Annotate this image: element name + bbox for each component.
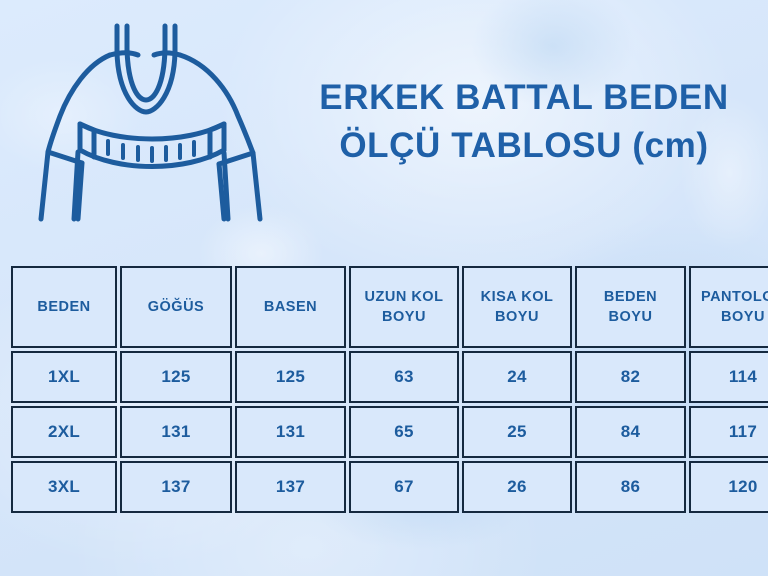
page-title: ERKEK BATTAL BEDEN ÖLÇÜ TABLOSU (cm): [296, 74, 752, 170]
header-line: KISA KOL: [464, 287, 570, 307]
cell-uzun-kol-boyu: 65: [349, 406, 459, 458]
header-line: BOYU: [577, 307, 684, 327]
column-header-pantolon-boyu: PANTOLON BOYU: [689, 266, 768, 348]
header-line: UZUN KOL: [351, 287, 457, 307]
cell-gogus: 125: [120, 351, 232, 403]
cell-basen: 137: [235, 461, 346, 513]
column-header-gogus: GÖĞÜS: [120, 266, 232, 348]
cell-beden-boyu: 84: [575, 406, 686, 458]
column-header-uzun-kol-boyu: UZUN KOL BOYU: [349, 266, 459, 348]
header-line: BEDEN: [577, 287, 684, 307]
cell-beden: 2XL: [11, 406, 117, 458]
cell-pantolon-boyu: 117: [689, 406, 768, 458]
cell-beden-boyu: 82: [575, 351, 686, 403]
header-line: BEDEN: [13, 297, 115, 317]
column-header-beden: BEDEN: [11, 266, 117, 348]
title-line-1: ERKEK BATTAL BEDEN: [296, 74, 752, 122]
header-line: PANTOLON: [691, 287, 768, 307]
cell-beden-boyu: 86: [575, 461, 686, 513]
table-header-row: BEDEN GÖĞÜS BASEN UZUN KOL BOYU KISA KOL…: [11, 266, 768, 348]
column-header-kisa-kol-boyu: KISA KOL BOYU: [462, 266, 572, 348]
table-row: 3XL 137 137 67 26 86 120: [11, 461, 768, 513]
column-header-basen: BASEN: [235, 266, 346, 348]
cell-gogus: 131: [120, 406, 232, 458]
cell-beden: 1XL: [11, 351, 117, 403]
header-line: BOYU: [691, 307, 768, 327]
cell-kisa-kol-boyu: 24: [462, 351, 572, 403]
cell-basen: 131: [235, 406, 346, 458]
cell-uzun-kol-boyu: 67: [349, 461, 459, 513]
table-row: 1XL 125 125 63 24 82 114: [11, 351, 768, 403]
header-line: GÖĞÜS: [122, 297, 230, 317]
cell-kisa-kol-boyu: 25: [462, 406, 572, 458]
header-line: BOYU: [351, 307, 457, 327]
size-chart-page: ERKEK BATTAL BEDEN ÖLÇÜ TABLOSU (cm) BED…: [0, 0, 768, 576]
cell-gogus: 137: [120, 461, 232, 513]
size-chart-table: BEDEN GÖĞÜS BASEN UZUN KOL BOYU KISA KOL…: [8, 263, 768, 516]
title-line-2: ÖLÇÜ TABLOSU (cm): [296, 122, 752, 170]
table-row: 2XL 131 131 65 25 84 117: [11, 406, 768, 458]
cell-basen: 125: [235, 351, 346, 403]
cell-uzun-kol-boyu: 63: [349, 351, 459, 403]
header-line: BOYU: [464, 307, 570, 327]
cell-pantolon-boyu: 114: [689, 351, 768, 403]
cell-kisa-kol-boyu: 26: [462, 461, 572, 513]
cell-beden: 3XL: [11, 461, 117, 513]
header-line: BASEN: [237, 297, 344, 317]
column-header-beden-boyu: BEDEN BOYU: [575, 266, 686, 348]
tshirt-measuring-tape-icon: [38, 12, 294, 240]
cell-pantolon-boyu: 120: [689, 461, 768, 513]
header-area: ERKEK BATTAL BEDEN ÖLÇÜ TABLOSU (cm): [0, 0, 768, 250]
